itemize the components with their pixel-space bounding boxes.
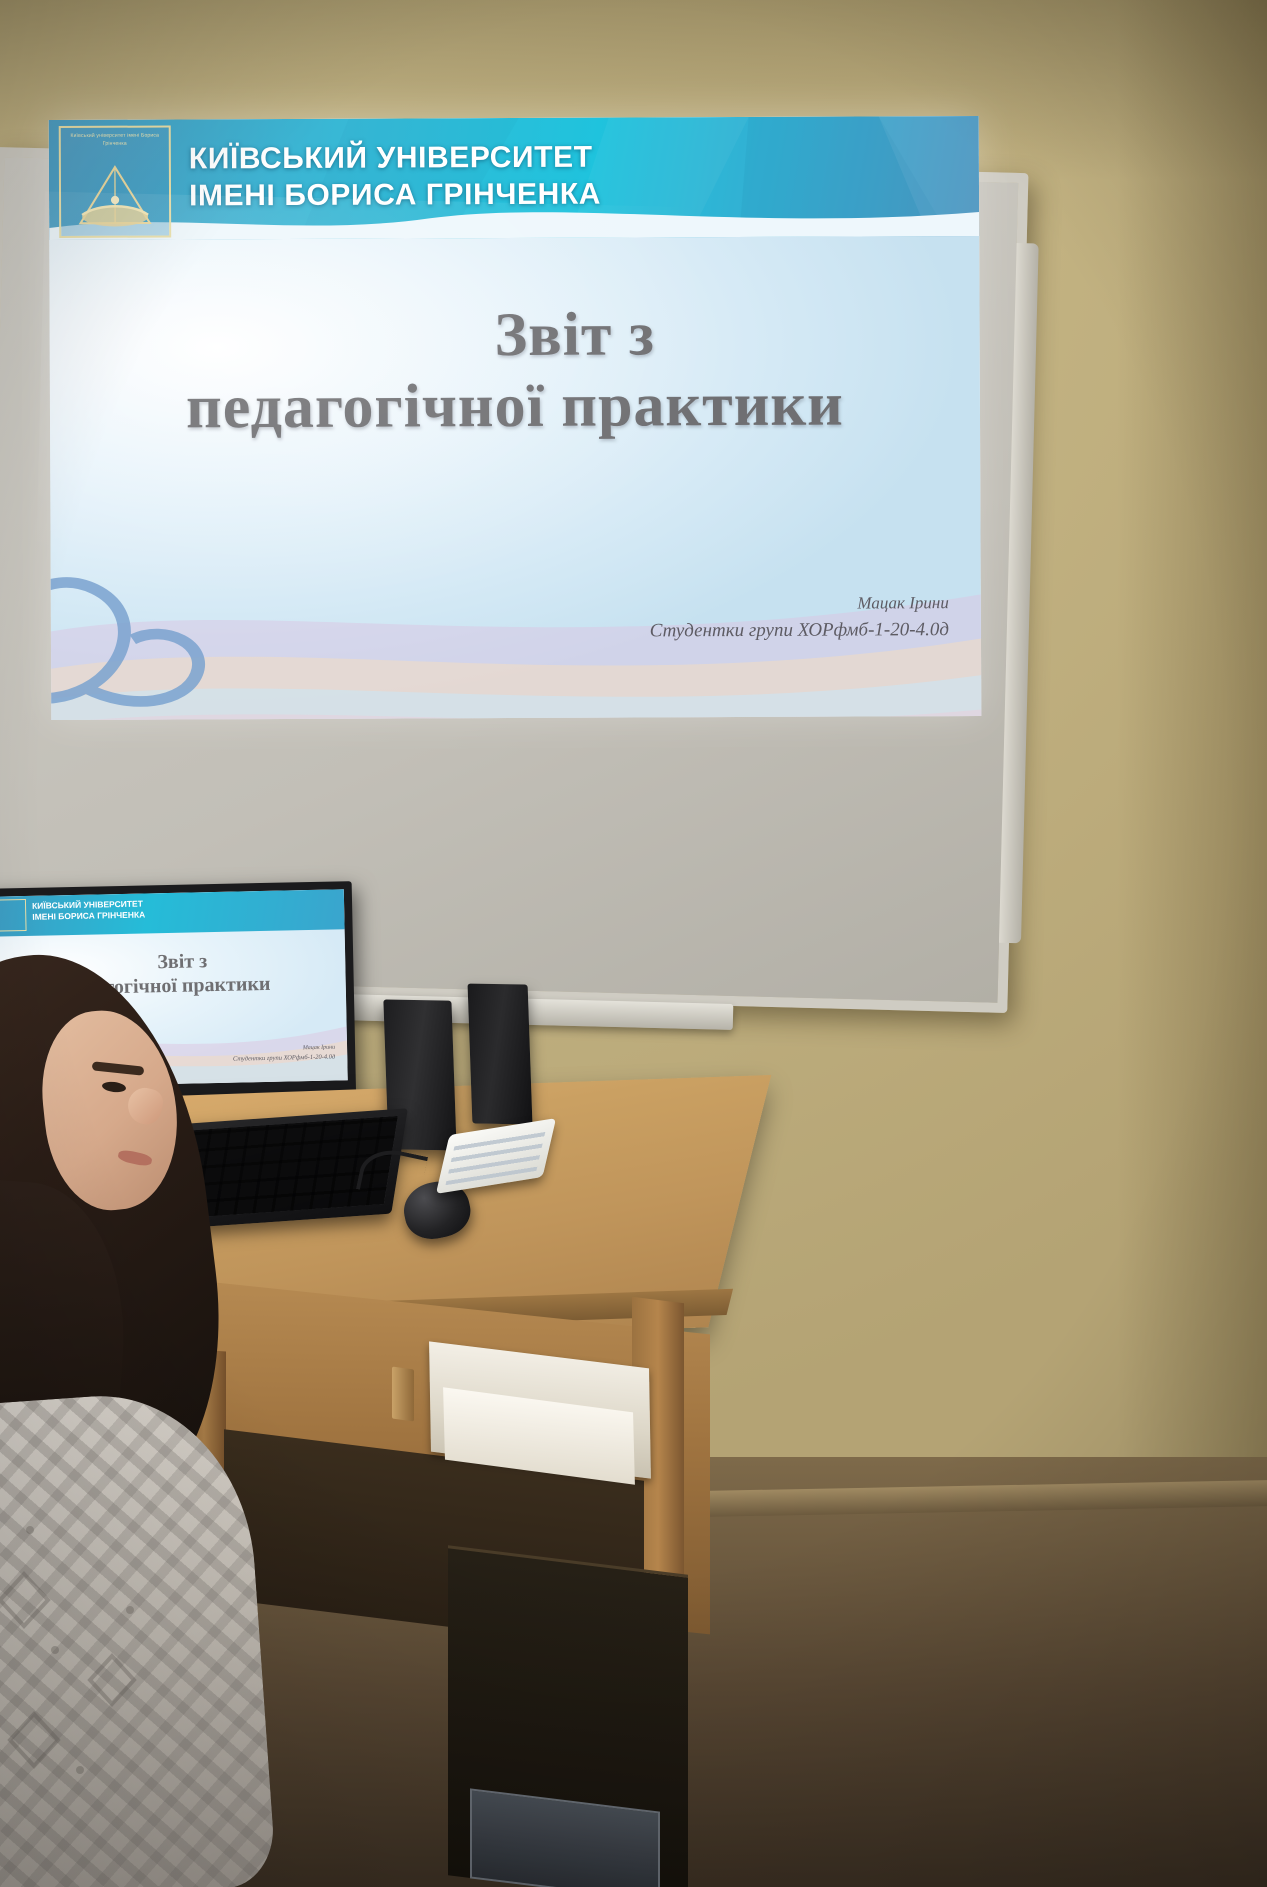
remote-buttons[interactable] xyxy=(445,1127,546,1186)
university-logo: Київський університет імені Бориса Грінч… xyxy=(59,125,171,237)
slide-header-band: Київський університет імені Бориса Грінч… xyxy=(49,116,980,240)
monitor-uni-line2: ІМЕНІ БОРИСА ГРІНЧЕНКА xyxy=(32,910,145,924)
logo-emblem-icon xyxy=(69,164,161,230)
slide-author-block: Мацак Ірини Студентки групи ХОРфмб-1-20-… xyxy=(650,590,949,645)
university-name-line1: КИЇВСЬКИЙ УНІВЕРСИТЕТ xyxy=(189,140,601,178)
drawer-handle[interactable] xyxy=(392,1366,414,1421)
monitor-slide-header: КИЇВСЬКИЙ УНІВЕРСИТЕТ ІМЕНІ БОРИСА ГРІНЧ… xyxy=(0,889,345,936)
monitor-author-block: Мацак Ірини Студентки групи ХОРфмб-1-20-… xyxy=(233,1044,336,1065)
speaker-right xyxy=(468,984,533,1125)
monitor-university-name: КИЇВСЬКИЙ УНІВЕРСИТЕТ ІМЕНІ БОРИСА ГРІНЧ… xyxy=(32,898,145,923)
author-name: Мацак Ірини xyxy=(650,590,949,617)
slide-title: Звіт з педагогічної практики xyxy=(50,301,981,448)
university-name-line2: ІМЕНІ БОРИСА ГРІНЧЕНКА xyxy=(189,176,601,214)
classroom-photo-scene: Київський університет імені Бориса Грінч… xyxy=(0,0,1267,1887)
slide-title-line2: педагогічної практики xyxy=(50,366,980,448)
monitor-logo-icon xyxy=(0,899,27,932)
author-group: Студентки групи ХОРфмб-1-20-4.0д xyxy=(650,616,949,646)
wall-corner-shading xyxy=(1117,0,1267,1500)
logo-caption: Київський університет імені Бориса Грінч… xyxy=(67,133,163,148)
slide-title-line1: Звіт з xyxy=(50,301,980,370)
projected-slide: Київський університет імені Бориса Грінч… xyxy=(49,116,982,720)
sweater-knit-pattern xyxy=(0,1470,210,1870)
university-name: КИЇВСЬКИЙ УНІВЕРСИТЕТ ІМЕНІ БОРИСА ГРІНЧ… xyxy=(189,140,601,215)
